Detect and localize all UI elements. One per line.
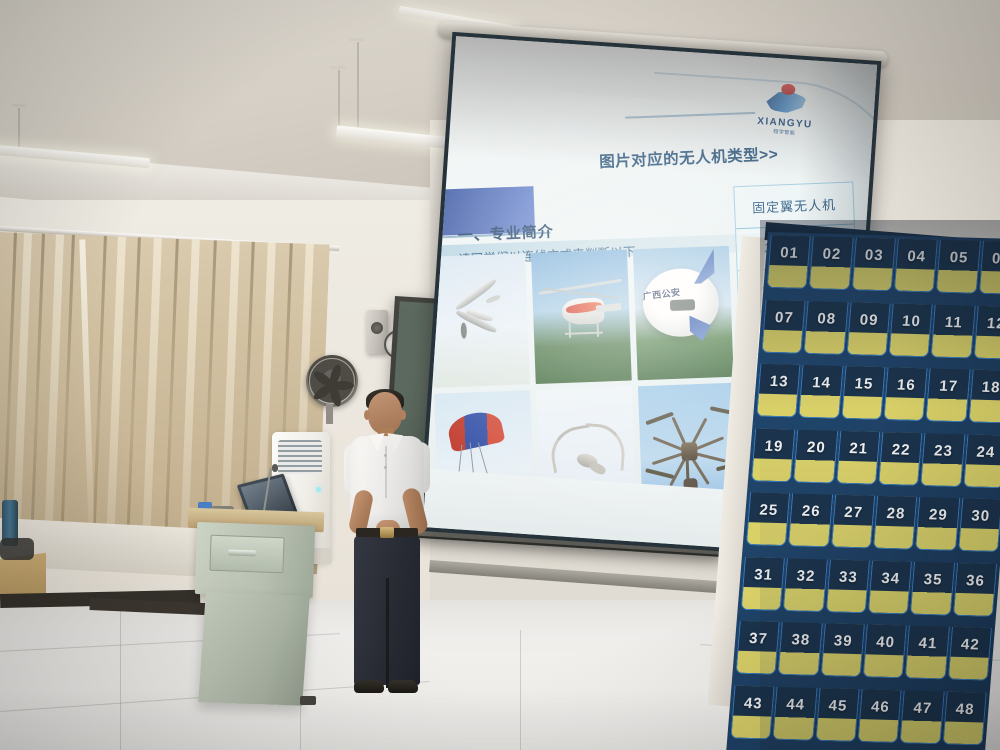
pocket-number: 47 <box>903 699 943 717</box>
phone-pocket[interactable]: 33 <box>825 559 870 613</box>
pocket-number: 31 <box>744 566 784 584</box>
eagle-wing-icon <box>765 81 807 118</box>
phone-pocket[interactable]: 21 <box>836 430 881 484</box>
phone-pocket[interactable]: 10 <box>888 303 933 357</box>
speaker-cone <box>371 322 383 334</box>
slide-section-heading: 一、专业简介 <box>457 221 554 246</box>
phone-pocket[interactable]: 43 <box>730 685 775 739</box>
pocket-number: 33 <box>829 568 869 586</box>
leg-seam <box>386 578 389 688</box>
pocket-number: 20 <box>797 438 837 456</box>
pocket-number: 02 <box>812 245 852 263</box>
pocket-number: 19 <box>754 437 794 455</box>
phone-pocket[interactable]: 11 <box>931 304 976 358</box>
section-number: 一、 <box>457 226 490 244</box>
phone-pocket[interactable]: 25 <box>746 492 791 546</box>
pocket-number: 24 <box>966 443 1000 461</box>
pocket-number: 12 <box>976 314 1000 332</box>
phone-pocket[interactable]: 37 <box>735 621 780 675</box>
light-bracket <box>330 66 346 69</box>
pocket-number: 44 <box>776 695 816 713</box>
phone-pocket[interactable]: 47 <box>900 690 945 744</box>
air-conditioner-indicator <box>316 487 321 492</box>
page-title: 专业简介 <box>489 223 554 243</box>
phone-pocket[interactable]: 14 <box>799 365 844 419</box>
phone-pocket[interactable]: 41 <box>905 626 950 680</box>
phone-pocket[interactable]: 31 <box>741 557 786 611</box>
pocket-number: 41 <box>908 635 948 653</box>
pocket-number: 08 <box>807 310 847 328</box>
phone-pocket[interactable]: 30 <box>958 498 1000 552</box>
pocket-number: 48 <box>945 700 985 718</box>
slide-logo: XIANGYU 翔宇智能 <box>748 80 823 138</box>
fan-mount-arm <box>326 404 333 424</box>
pocket-number: 15 <box>844 375 884 393</box>
microphone-head <box>272 464 278 472</box>
pocket-number: 38 <box>781 631 821 649</box>
pocket-number: 29 <box>918 506 958 524</box>
pocket-number: 11 <box>934 313 974 331</box>
pocket-number: 05 <box>939 249 979 267</box>
airship-uav-photo: 广西公安 <box>633 246 734 380</box>
pocket-number: 27 <box>834 504 874 522</box>
air-conditioner-grill <box>278 440 322 474</box>
phone-pocket[interactable]: 48 <box>942 691 987 745</box>
phone-pocket[interactable]: 02 <box>809 236 854 290</box>
phone-pocket[interactable]: 12 <box>973 305 1000 359</box>
phone-pocket[interactable]: 08 <box>804 301 849 355</box>
phone-pocket[interactable]: 36 <box>953 562 998 616</box>
shoe <box>388 680 418 693</box>
pocket-number: 21 <box>839 439 879 457</box>
pocket-number: 34 <box>871 569 911 587</box>
pocket-number: 23 <box>924 442 964 460</box>
belt-buckle <box>380 527 394 538</box>
pocket-number: 16 <box>886 376 926 394</box>
lectern-foot <box>300 696 316 705</box>
phone-pocket[interactable]: 20 <box>793 429 838 483</box>
phone-pocket[interactable]: 03 <box>851 237 896 291</box>
bag-on-floor <box>0 538 34 560</box>
pocket-number: 37 <box>739 630 779 648</box>
phone-pocket[interactable]: 44 <box>773 686 818 740</box>
phone-pocket[interactable]: 05 <box>936 240 981 294</box>
light-wire <box>357 42 359 134</box>
phone-pocket[interactable]: 40 <box>863 624 908 678</box>
pocket-number: 28 <box>876 505 916 523</box>
phone-pocket[interactable]: 38 <box>778 622 823 676</box>
phone-pocket[interactable]: 24 <box>963 434 1000 488</box>
light-bracket <box>349 38 365 41</box>
pocket-number: 26 <box>791 502 831 520</box>
phone-pocket[interactable]: 17 <box>926 368 971 422</box>
phone-pocket[interactable]: 45 <box>815 687 860 741</box>
phone-pocket[interactable]: 42 <box>947 627 992 681</box>
phone-pocket[interactable]: 46 <box>857 689 902 743</box>
phone-pocket[interactable]: 18 <box>968 370 1000 424</box>
light-wire <box>18 108 20 152</box>
phone-pocket[interactable]: 13 <box>756 364 801 418</box>
pocket-number: 46 <box>861 698 901 716</box>
phone-pocket[interactable]: 15 <box>841 366 886 420</box>
light-bracket <box>12 104 26 107</box>
presenter <box>340 392 436 712</box>
pocket-number: 01 <box>770 244 810 262</box>
pocket-number: 36 <box>956 571 996 589</box>
shoe <box>354 680 384 693</box>
phone-pocket[interactable]: 01 <box>767 235 812 289</box>
phone-pocket[interactable]: 23 <box>920 433 965 487</box>
phone-pocket[interactable]: 34 <box>868 560 913 614</box>
phone-pocket[interactable]: 19 <box>751 428 796 482</box>
pocket-number: 39 <box>823 632 863 650</box>
list-item[interactable]: 固定翼无人机 <box>734 183 854 230</box>
pocket-number: 03 <box>854 246 894 264</box>
phone-pocket[interactable]: 04 <box>894 239 939 293</box>
phone-pocket[interactable]: 29 <box>915 497 960 551</box>
wall-phone-pocket-organizer: 0102030405060708091011121314151617181920… <box>726 232 1000 750</box>
pocket-number: 32 <box>786 567 826 585</box>
phone-pocket[interactable]: 28 <box>873 496 918 550</box>
pocket-number: 10 <box>892 312 932 330</box>
pocket-number: 18 <box>971 379 1000 397</box>
pocket-number: 43 <box>733 694 773 712</box>
drawer-handle[interactable] <box>228 550 256 557</box>
teacher-lectern[interactable] <box>196 510 316 710</box>
pocket-number: 07 <box>765 308 805 326</box>
pocket-number: 45 <box>818 696 858 714</box>
phone-pocket[interactable]: 39 <box>820 623 865 677</box>
phone-pocket[interactable]: 06 <box>978 241 1000 295</box>
phone-pocket[interactable]: 22 <box>878 432 923 486</box>
fixed-wing-aircraft-icon <box>447 283 509 358</box>
classroom-scene: XIANGYU 翔宇智能 图片对应的无人机类型>> 一、专业简介 请同学们以连线… <box>0 0 1000 750</box>
phone-pocket[interactable]: 35 <box>910 561 955 615</box>
pocket-number: 30 <box>961 507 1000 525</box>
phone-pocket[interactable]: 09 <box>846 302 891 356</box>
helicopter-uav-photo <box>531 250 632 384</box>
pocket-number: 25 <box>749 501 789 519</box>
phone-pocket[interactable]: 27 <box>831 495 876 549</box>
pocket-number: 13 <box>759 373 799 391</box>
pocket-number: 35 <box>913 570 953 588</box>
pocket-number: 04 <box>897 248 937 266</box>
pocket-number: 42 <box>951 636 991 654</box>
pocket-number: 06 <box>982 250 1000 268</box>
pocket-number: 14 <box>802 374 842 392</box>
pocket-number: 22 <box>881 441 921 459</box>
lectern-base <box>198 592 310 705</box>
phone-pocket[interactable]: 16 <box>883 367 928 421</box>
pocket-number: 09 <box>849 311 889 329</box>
parafoil-canopy-icon <box>446 408 506 453</box>
pocket-number: 40 <box>866 633 906 651</box>
fixed-wing-uav-photo <box>429 253 530 387</box>
phone-pocket[interactable]: 26 <box>788 493 833 547</box>
phone-pocket[interactable]: 32 <box>783 558 828 612</box>
phone-pocket[interactable]: 07 <box>761 299 806 353</box>
pocket-number: 17 <box>929 377 969 395</box>
